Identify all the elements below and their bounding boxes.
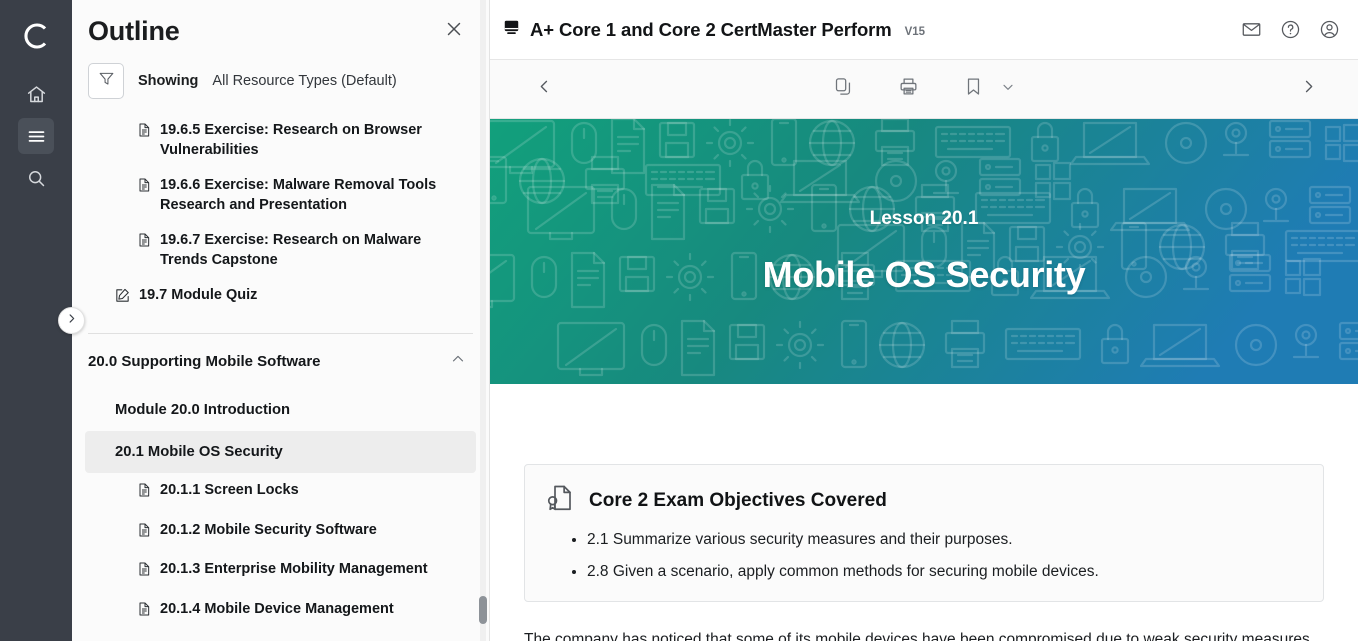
outline-scrollbar[interactable] bbox=[477, 0, 489, 641]
document-icon bbox=[136, 482, 152, 505]
user-account-icon[interactable] bbox=[1319, 19, 1340, 40]
book-device-icon bbox=[502, 18, 521, 42]
list-item[interactable]: 19.6.5 Exercise: Research on Browser Vul… bbox=[72, 113, 489, 168]
hero-lesson-title: Mobile OS Security bbox=[763, 254, 1086, 296]
prev-page-button[interactable] bbox=[530, 75, 558, 103]
home-icon bbox=[26, 84, 47, 105]
close-outline-button[interactable] bbox=[441, 19, 467, 45]
sidebar-item-outline[interactable] bbox=[18, 118, 54, 154]
outline-menu-icon bbox=[26, 126, 47, 147]
expand-sidebar-handle[interactable] bbox=[58, 307, 85, 334]
hero-lesson-number: Lesson 20.1 bbox=[763, 208, 1086, 230]
outline-module-header[interactable]: 20.0 Supporting Mobile Software bbox=[72, 334, 489, 389]
copy-button[interactable] bbox=[833, 76, 854, 102]
list-item[interactable]: 20.1.2 Mobile Security Software bbox=[72, 513, 489, 553]
scrollbar-track[interactable] bbox=[480, 0, 486, 641]
chevron-down-icon bbox=[1000, 79, 1016, 100]
document-icon bbox=[136, 122, 152, 145]
list-item-label: 19.6.5 Exercise: Research on Browser Vul… bbox=[160, 121, 463, 160]
scrollbar-thumb[interactable] bbox=[479, 596, 487, 624]
bookmark-icon bbox=[963, 76, 984, 102]
help-circle-icon[interactable] bbox=[1280, 19, 1301, 40]
mail-icon[interactable] bbox=[1241, 19, 1262, 40]
main-content: A+ Core 1 and Core 2 CertMaster Perform … bbox=[490, 0, 1358, 641]
list-item[interactable]: 20.1.1 Screen Locks bbox=[72, 473, 489, 513]
outline-header: Outline bbox=[72, 0, 489, 53]
close-icon bbox=[443, 18, 465, 45]
page-title: Outline bbox=[88, 16, 180, 47]
quiz-pencil-icon bbox=[114, 287, 131, 311]
list-item[interactable]: 19.6.6 Exercise: Malware Removal Tools R… bbox=[72, 168, 489, 223]
document-icon bbox=[136, 232, 152, 255]
list-item-label: 19.6.6 Exercise: Malware Removal Tools R… bbox=[160, 176, 463, 215]
list-item-quiz[interactable]: 19.7 Module Quiz bbox=[72, 278, 489, 319]
outline-panel: Outline Showing All Resource Types (Defa… bbox=[72, 0, 490, 641]
chevron-right-icon bbox=[65, 312, 78, 330]
list-item-label: 20.1.3 Enterprise Mobility Management bbox=[160, 560, 428, 580]
list-item-label: 20.1.1 Screen Locks bbox=[160, 481, 299, 501]
list-item[interactable]: 20.1.4 Mobile Device Management bbox=[72, 592, 489, 632]
objective-item: 2.1 Summarize various security measures … bbox=[587, 530, 1301, 551]
comptia-c-logo[interactable] bbox=[18, 18, 54, 54]
list-item-label: 19.7 Module Quiz bbox=[139, 286, 257, 306]
course-title: A+ Core 1 and Core 2 CertMaster Perform bbox=[530, 19, 892, 41]
list-item-label: 19.6.7 Exercise: Research on Malware Tre… bbox=[160, 231, 463, 270]
outline-lesson-intro[interactable]: Module 20.0 Introduction bbox=[85, 389, 476, 431]
exam-objectives-box: Core 2 Exam Objectives Covered 2.1 Summa… bbox=[524, 464, 1324, 602]
document-icon bbox=[136, 522, 152, 545]
bookmark-button[interactable] bbox=[963, 76, 984, 102]
list-item-label: 20.1 Mobile OS Security bbox=[115, 444, 283, 460]
list-item-label: Module 20.0 Introduction bbox=[115, 402, 290, 418]
search-icon bbox=[26, 168, 47, 189]
course-header: A+ Core 1 and Core 2 CertMaster Perform … bbox=[490, 0, 1358, 60]
chevron-right-icon bbox=[1299, 77, 1318, 101]
module-label: 20.0 Supporting Mobile Software bbox=[88, 353, 321, 370]
objective-item: 2.8 Given a scenario, apply common metho… bbox=[587, 562, 1301, 583]
chevron-up-icon[interactable] bbox=[449, 350, 467, 373]
lesson-paragraph: The company has noticed that some of its… bbox=[524, 628, 1324, 641]
sidebar-item-home[interactable] bbox=[18, 76, 54, 112]
resource-filter-row: Showing All Resource Types (Default) bbox=[72, 53, 489, 113]
showing-value[interactable]: All Resource Types (Default) bbox=[212, 73, 396, 89]
filter-button[interactable] bbox=[88, 63, 124, 99]
lesson-content: Lesson 20.1 Mobile OS Security bbox=[490, 119, 1358, 641]
lesson-hero-banner: Lesson 20.1 Mobile OS Security bbox=[490, 119, 1358, 384]
next-page-button[interactable] bbox=[1294, 75, 1322, 103]
sidebar-item-search[interactable] bbox=[18, 160, 54, 196]
showing-label: Showing bbox=[138, 73, 198, 89]
filter-icon bbox=[97, 69, 116, 93]
document-icon bbox=[136, 601, 152, 624]
bookmark-more-button[interactable] bbox=[1000, 79, 1016, 100]
document-icon bbox=[136, 177, 152, 200]
outline-lesson-selected[interactable]: 20.1 Mobile OS Security bbox=[85, 431, 476, 473]
list-item[interactable]: 19.6.7 Exercise: Research on Malware Tre… bbox=[72, 223, 489, 278]
objectives-title: Core 2 Exam Objectives Covered bbox=[589, 490, 887, 512]
outline-list: 19.6.5 Exercise: Research on Browser Vul… bbox=[72, 113, 489, 631]
list-item[interactable]: 20.1.3 Enterprise Mobility Management bbox=[72, 552, 489, 592]
chevron-left-icon bbox=[535, 77, 554, 101]
objectives-document-icon bbox=[545, 483, 575, 518]
copy-icon bbox=[833, 76, 854, 102]
print-icon bbox=[898, 76, 919, 102]
reader-toolbar bbox=[490, 60, 1358, 119]
document-icon bbox=[136, 561, 152, 584]
print-button[interactable] bbox=[898, 76, 919, 102]
outline-list-scroll: 19.6.5 Exercise: Research on Browser Vul… bbox=[72, 113, 489, 641]
objectives-list: 2.1 Summarize various security measures … bbox=[545, 530, 1301, 583]
list-item-label: 20.1.4 Mobile Device Management bbox=[160, 600, 394, 620]
course-version: V15 bbox=[905, 26, 925, 38]
list-item-label: 20.1.2 Mobile Security Software bbox=[160, 521, 377, 541]
